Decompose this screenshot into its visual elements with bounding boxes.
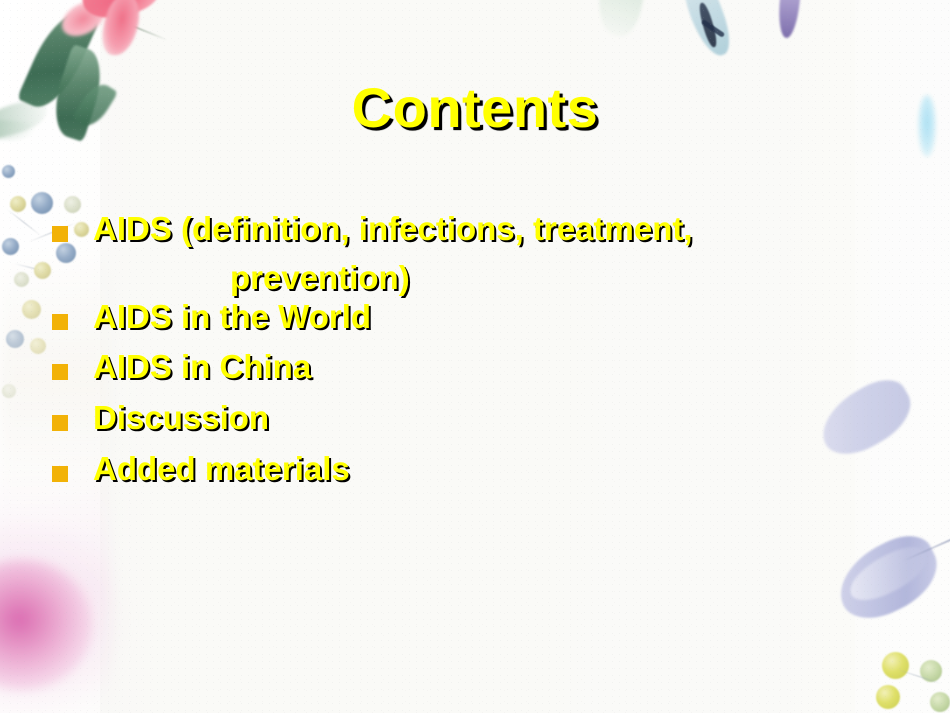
- bullet-text: AIDS in China: [93, 350, 922, 383]
- bullet-item: AIDS (definition, infections, treatment,…: [52, 212, 922, 294]
- bullet-text-block: AIDS in the World: [68, 300, 922, 333]
- bullet-text: AIDS (definition, infections, treatment,: [93, 212, 922, 245]
- bullet-text-wrapped: prevention): [93, 261, 922, 294]
- presentation-slide: Contents AIDS (definition, infections, t…: [0, 0, 950, 713]
- bullet-text: Added materials: [93, 452, 922, 485]
- bullet-square-icon: [52, 415, 68, 431]
- bullet-square-icon: [52, 314, 68, 330]
- bullet-text: AIDS in the World: [93, 300, 922, 333]
- bullet-item: AIDS in the World: [52, 300, 922, 333]
- bullet-text-block: AIDS in China: [68, 350, 922, 383]
- slide-content: Contents AIDS (definition, infections, t…: [0, 0, 950, 713]
- bullet-square-icon: [52, 364, 68, 380]
- contents-bullet-list: AIDS (definition, infections, treatment,…: [52, 212, 922, 503]
- bullet-text-block: Discussion: [68, 401, 922, 434]
- bullet-item: Added materials: [52, 452, 922, 485]
- slide-title: Contents: [0, 80, 950, 136]
- bullet-item: Discussion: [52, 401, 922, 434]
- bullet-item: AIDS in China: [52, 350, 922, 383]
- bullet-text-block: AIDS (definition, infections, treatment,…: [68, 212, 922, 294]
- bullet-text: Discussion: [93, 401, 922, 434]
- bullet-square-icon: [52, 466, 68, 482]
- bullet-text-block: Added materials: [68, 452, 922, 485]
- bullet-square-icon: [52, 226, 68, 242]
